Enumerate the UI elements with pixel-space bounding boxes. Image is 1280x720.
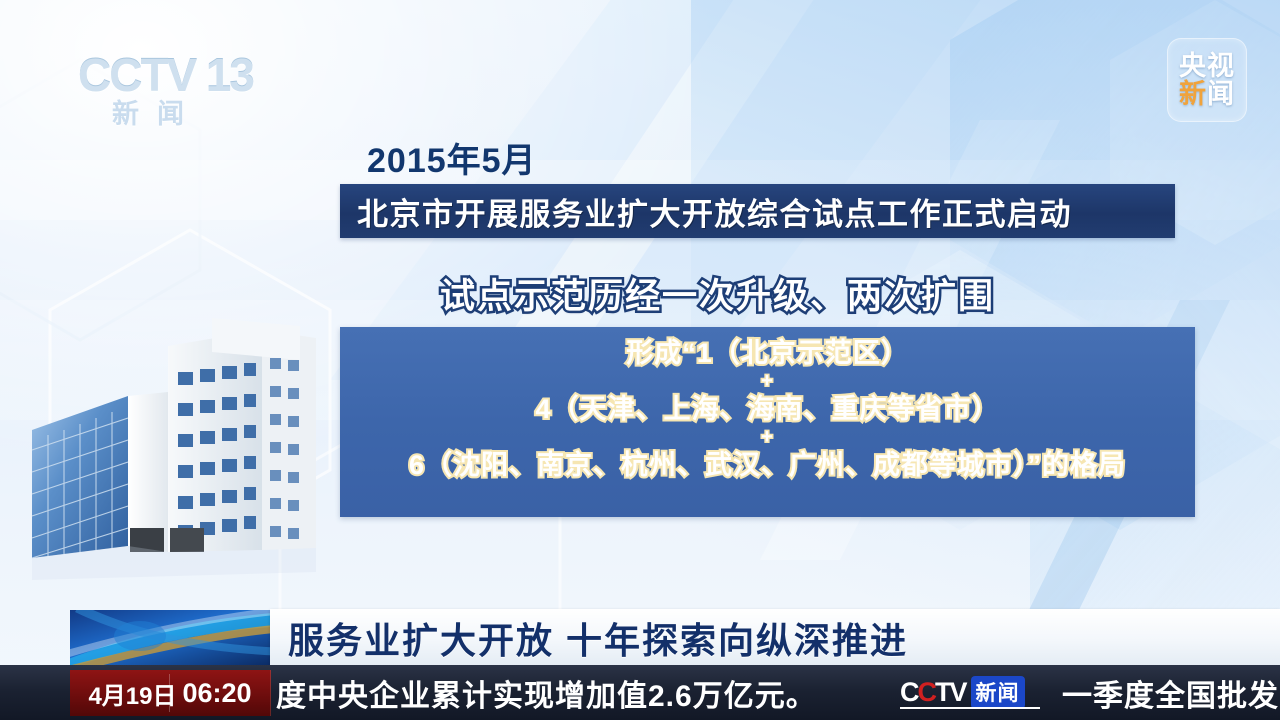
cctv13-channel-logo: CCTV 13 新闻 bbox=[78, 48, 268, 128]
graphic-date-label: 2015年5月 bbox=[367, 133, 537, 182]
graphic-headline-text: 北京市开展服务业扩大开放综合试点工作正式启动 bbox=[340, 189, 1072, 234]
news-ticker-bar: 4月19日 06:20 度中央企业累计实现增加值2.6万亿元。 CCTV 新闻 … bbox=[0, 665, 1280, 720]
watermark-char-xin: 新 bbox=[1179, 80, 1207, 108]
content-line-2: 4（天津、上海、海南、重庆等省市） bbox=[535, 392, 999, 426]
watermark-line-top: 央视 bbox=[1179, 52, 1235, 80]
ticker-date: 4月19日 bbox=[88, 676, 176, 711]
graphic-subheadline: 试点示范历经一次升级、两次扩围 bbox=[440, 268, 1180, 319]
cctv-logo-number: 13 bbox=[206, 49, 253, 101]
broadcast-screen: CCTV 13 新闻 央视 新闻 2015年5月 北京市开展服务业扩大开放综合试… bbox=[0, 0, 1280, 720]
ticker-divider bbox=[169, 674, 170, 712]
lower-third-decoration bbox=[70, 610, 275, 665]
cctv-news-watermark: 央视 新闻 bbox=[1167, 38, 1247, 122]
cctv-logo-subtitle: 新闻 bbox=[112, 92, 202, 131]
ticker-headline: 度中央企业累计实现增加值2.6万亿元。 bbox=[276, 665, 817, 720]
content-line-3: 6（沈阳、南京、杭州、武汉、广州、成都等城市）”的格局 bbox=[409, 448, 1126, 482]
ticker-next-headline: 一季度全国批发 bbox=[1062, 665, 1279, 720]
content-line-plus-1: + bbox=[761, 370, 774, 392]
lower-third-title-bar: 服务业扩大开放 十年探索向纵深推进 bbox=[270, 609, 1280, 666]
graphic-headline-banner: 北京市开展服务业扩大开放综合试点工作正式启动 bbox=[340, 184, 1175, 238]
ticker-cctv-news-logo: CCTV 新闻 bbox=[900, 675, 1025, 709]
watermark-line-bottom: 新闻 bbox=[1179, 80, 1235, 108]
content-line-1: 形成“1（北京示范区） bbox=[626, 336, 909, 370]
ticker-datetime-block: 4月19日 06:20 bbox=[70, 670, 271, 716]
graphic-content-lines: 形成“1（北京示范区） + 4（天津、上海、海南、重庆等省市） + 6（沈阳、南… bbox=[300, 336, 1235, 511]
ticker-cctv-wordmark: CCTV bbox=[900, 677, 966, 708]
ticker-clock: 06:20 bbox=[182, 678, 251, 709]
content-line-plus-2: + bbox=[761, 426, 774, 448]
lower-third-title: 服务业扩大开放 十年探索向纵深推进 bbox=[270, 612, 908, 664]
ticker-news-badge: 新闻 bbox=[971, 676, 1025, 709]
ticker-logo-underline bbox=[900, 707, 1040, 709]
watermark-char-wen: 闻 bbox=[1207, 80, 1235, 108]
